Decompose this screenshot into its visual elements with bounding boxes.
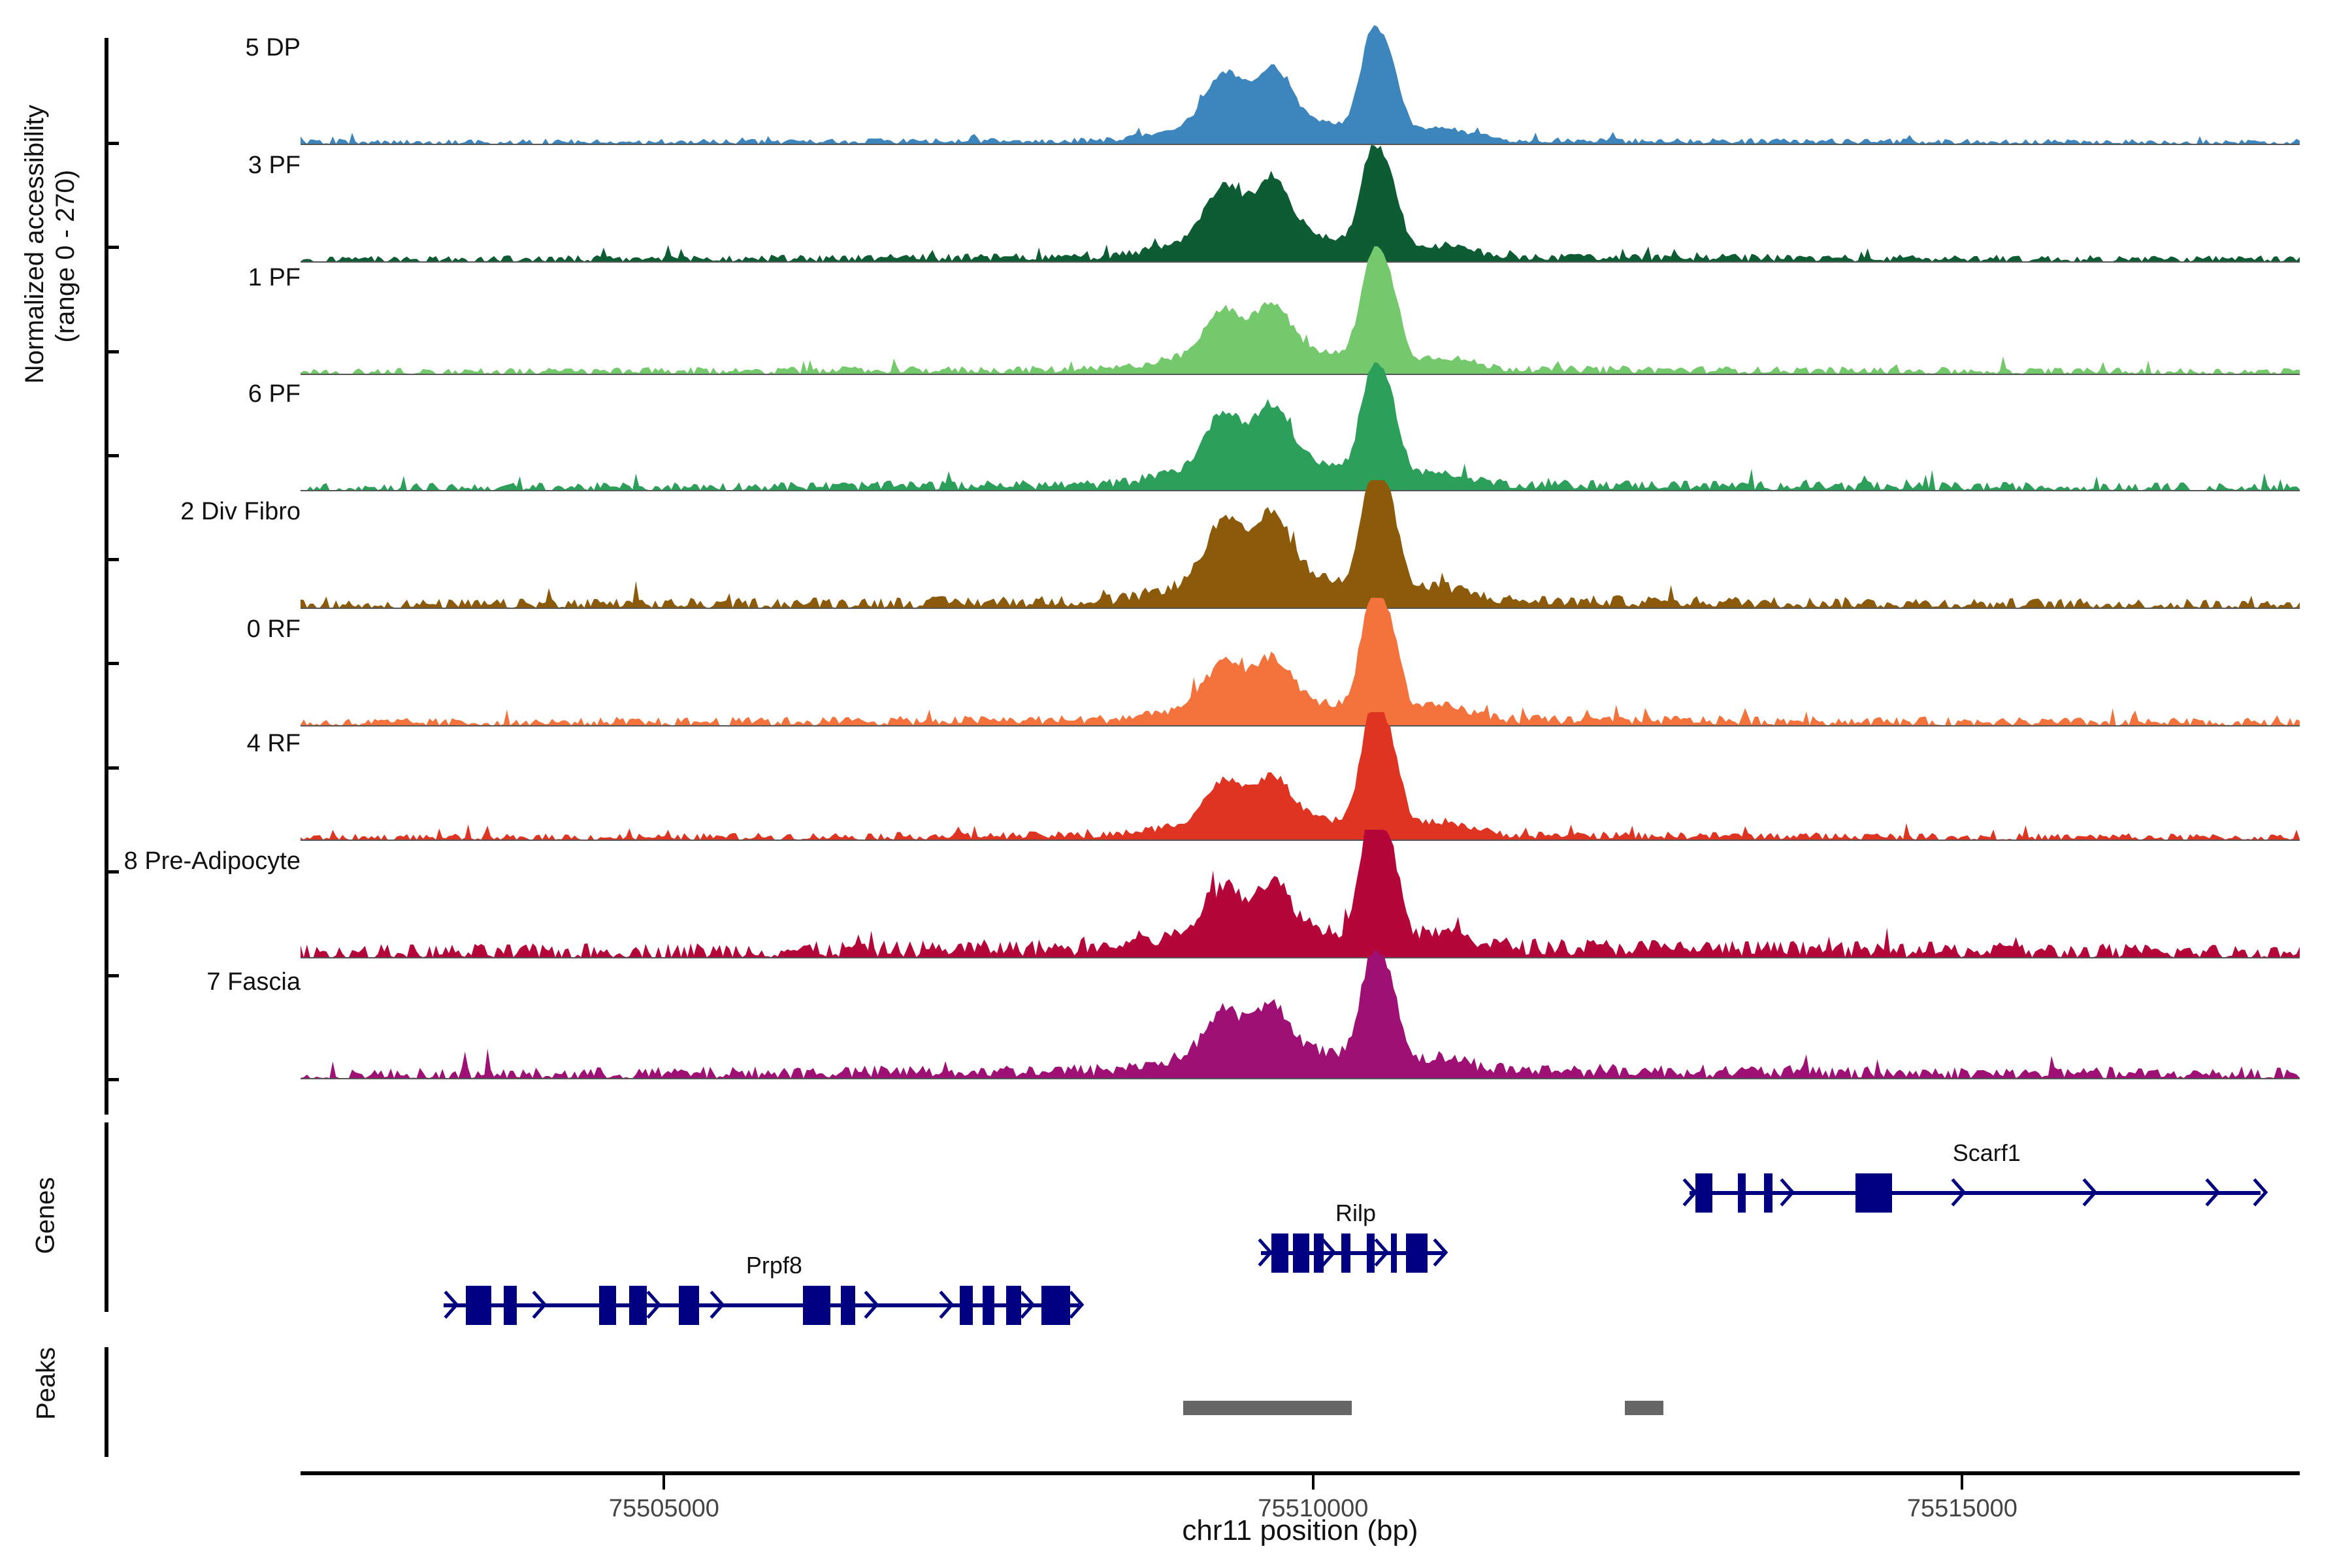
track-label-7: 4 RF	[247, 730, 301, 758]
gene-exon	[1855, 1173, 1893, 1213]
x-axis-tick	[1961, 1475, 1963, 1490]
peaks-section-label: Peaks	[32, 1322, 61, 1446]
gene-strand-arrow-icon	[1374, 1238, 1391, 1270]
gene-exon	[679, 1286, 699, 1325]
gene-strand-arrow-icon	[1020, 1290, 1037, 1322]
gene-strand-arrow-icon	[2205, 1178, 2222, 1210]
gene-strand-arrow-icon	[1682, 1178, 1699, 1210]
gene-strand-arrow-icon	[532, 1290, 549, 1322]
y-axis-tick	[105, 142, 119, 145]
gene-exon	[1006, 1286, 1021, 1325]
gene-strand-arrow-icon	[939, 1290, 956, 1322]
peak-bar-1	[1183, 1401, 1352, 1415]
gene-exon	[960, 1286, 972, 1325]
signal-area-svg	[301, 246, 2300, 374]
track-label-column: 5 DP3 PF1 PF6 PF2 Div Fibro0 RF4 RF8 Pre…	[118, 0, 301, 1117]
signal-track-4	[301, 363, 2300, 490]
signal-area-svg	[301, 16, 2300, 144]
signal-track-6	[301, 598, 2300, 725]
peaks-axis-rail	[105, 1347, 108, 1457]
x-axis-tick-label: 75515000	[1907, 1495, 2017, 1523]
gene-strand-arrow-icon	[2082, 1178, 2099, 1210]
signal-track-5	[301, 480, 2300, 608]
gene-strand-arrow-icon	[864, 1290, 881, 1322]
track-label-8: 8 Pre-Adipocyte	[124, 847, 301, 875]
y-axis-tick	[105, 246, 119, 249]
y-axis-label-line2: (range 0 - 270)	[50, 129, 81, 384]
gene-exon	[841, 1286, 855, 1325]
signal-axis-rail	[105, 38, 108, 1115]
signal-track-9	[301, 951, 2300, 1078]
gene-exon	[1293, 1233, 1309, 1273]
x-axis-title: chr11 position (bp)	[1182, 1514, 1418, 1547]
genes-panel: Prpf8RilpScarf1	[301, 1122, 2300, 1318]
gene-exon	[1391, 1233, 1396, 1273]
signal-track-3	[301, 246, 2300, 374]
y-axis-tick	[105, 766, 119, 770]
signal-area-svg	[301, 134, 2300, 261]
track-label-6: 0 RF	[247, 615, 301, 644]
track-label-3: 1 PF	[248, 264, 301, 292]
track-baseline	[301, 1078, 2300, 1079]
signal-area-svg	[301, 830, 2300, 957]
y-axis-tick	[105, 662, 119, 665]
y-axis-tick	[105, 454, 119, 457]
peaks-panel	[301, 1347, 2300, 1458]
genes-section-label: Genes	[31, 1154, 61, 1278]
gene-exon	[1406, 1233, 1428, 1273]
gene-strand-arrow-icon	[2253, 1178, 2270, 1210]
gene-exon	[1738, 1173, 1745, 1213]
y-axis-tick	[105, 1078, 119, 1081]
x-axis-tick	[1312, 1475, 1315, 1490]
signal-area-svg	[301, 712, 2300, 840]
gene-strand-arrow-icon	[710, 1290, 727, 1322]
y-axis-tick	[105, 558, 119, 561]
gene-strand-arrow-icon	[444, 1290, 461, 1322]
genes-axis-rail	[105, 1122, 108, 1312]
track-label-4: 6 PF	[248, 380, 301, 408]
x-axis-tick-label: 75505000	[609, 1495, 719, 1523]
signal-area-svg	[301, 951, 2300, 1078]
gene-name-prpf8: Prpf8	[746, 1252, 802, 1279]
gene-exon	[983, 1286, 994, 1325]
y-axis-label: Normalized accessibility (range 0 - 270)	[20, 129, 81, 384]
gene-strand-arrow-icon	[1780, 1178, 1797, 1210]
signal-track-8	[301, 830, 2300, 957]
gene-name-scarf1: Scarf1	[1953, 1139, 2021, 1167]
gene-exon	[1341, 1233, 1350, 1273]
gene-intron-line	[1690, 1191, 2261, 1195]
gene-exon	[504, 1286, 516, 1325]
gene-strand-arrow-icon	[1258, 1238, 1275, 1270]
track-label-5: 2 Div Fibro	[180, 498, 301, 526]
signal-area-svg	[301, 480, 2300, 608]
signal-area-svg	[301, 598, 2300, 725]
gene-exon	[1764, 1173, 1772, 1213]
gene-exon	[1041, 1286, 1070, 1325]
gene-exon	[629, 1286, 647, 1325]
signal-track-7	[301, 712, 2300, 840]
gene-name-rilp: Rilp	[1335, 1200, 1376, 1227]
track-label-1: 5 DP	[246, 34, 301, 62]
gene-strand-arrow-icon	[1069, 1290, 1086, 1322]
y-axis-label-line1: Normalized accessibility	[20, 129, 50, 384]
signal-track-1	[301, 16, 2300, 144]
gene-exon	[803, 1286, 830, 1325]
gene-strand-arrow-icon	[1433, 1238, 1450, 1270]
y-axis-tick	[105, 350, 119, 353]
gene-strand-arrow-icon	[1951, 1178, 1968, 1210]
gene-strand-arrow-icon	[646, 1290, 663, 1322]
y-axis-tick	[105, 974, 119, 977]
signal-area-svg	[301, 363, 2300, 490]
x-axis-tick	[662, 1475, 665, 1490]
gene-exon	[466, 1286, 491, 1325]
track-label-9: 7 Fascia	[206, 968, 301, 996]
y-axis-tick	[105, 870, 119, 874]
gene-strand-arrow-icon	[1321, 1238, 1338, 1270]
track-label-2: 3 PF	[248, 152, 301, 180]
signal-track-2	[301, 134, 2300, 261]
signal-track-panel	[301, 0, 2300, 1117]
gene-exon	[599, 1286, 616, 1325]
peak-bar-2	[1625, 1401, 1664, 1415]
